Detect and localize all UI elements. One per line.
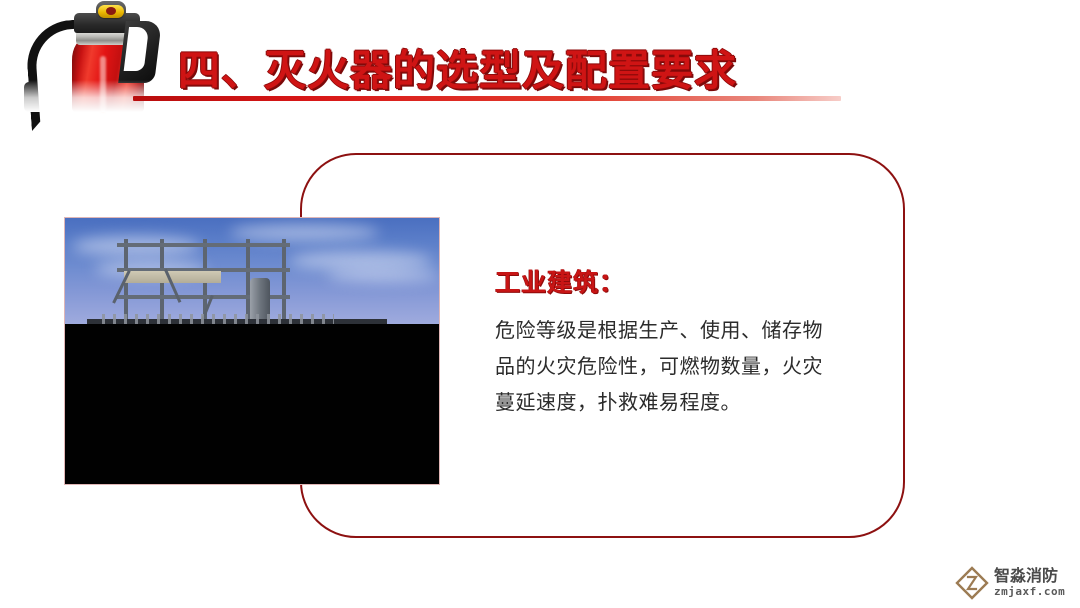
fire-extinguisher-icon: [14, 0, 179, 108]
body-text-line: 蔓延速度，扑救难易程度。: [495, 385, 840, 421]
page-title: 四、灭火器的选型及配置要求: [178, 37, 737, 98]
watermark-logo: 智淼消防 zmjaxf.com: [955, 562, 1075, 604]
zhimiao-diamond-logo-icon: [955, 566, 989, 600]
watermark-text: 智淼消防 zmjaxf.com: [994, 569, 1065, 597]
extinguisher-hose-tail: [24, 82, 35, 112]
photo-dark-region: [65, 324, 439, 484]
title-underline-rule: [133, 96, 841, 101]
content-text-block: 工业建筑： 危险等级是根据生产、使用、储存物 品的火灾危险性，可燃物数量，火灾 …: [495, 263, 840, 421]
photo-cloud: [289, 251, 431, 270]
structure-deck: [124, 271, 221, 283]
photo-cloud: [327, 269, 439, 282]
industrial-building-photo: [64, 217, 440, 485]
extinguisher-lever: [118, 21, 162, 83]
slide-header: 四、灭火器的选型及配置要求: [0, 0, 1080, 115]
body-text-line: 品的火灾危险性，可燃物数量，火灾: [495, 349, 840, 385]
slide-canvas: 四、灭火器的选型及配置要求: [0, 0, 1080, 608]
sub-heading: 工业建筑：: [495, 263, 840, 299]
structure-beam: [117, 243, 289, 247]
extinguisher-pin-hole: [106, 7, 116, 15]
watermark-url: zmjaxf.com: [994, 586, 1065, 598]
body-text-line: 危险等级是根据生产、使用、储存物: [495, 313, 840, 349]
watermark-brand-name: 智淼消防: [994, 569, 1065, 586]
